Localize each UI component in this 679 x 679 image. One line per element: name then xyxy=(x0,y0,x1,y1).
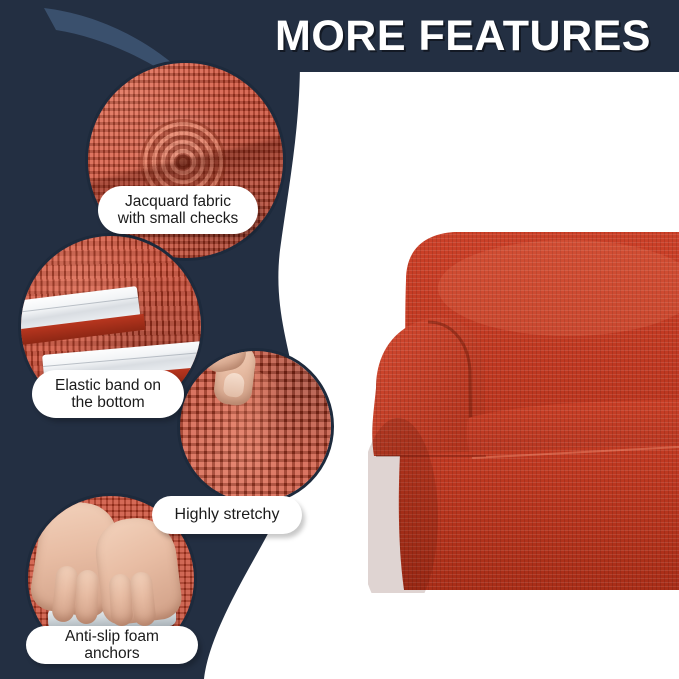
label-line-2: with small checks xyxy=(118,210,239,227)
sofa-skirt-weave xyxy=(399,444,679,590)
page-title: MORE FEATURES xyxy=(275,8,651,64)
left-finger-2 xyxy=(75,570,99,625)
feature-label-jacquard: Jacquard fabric with small checks xyxy=(98,186,258,234)
label-line-1: Jacquard fabric xyxy=(125,193,231,210)
feature-label-anchors-text: Anti-slip foam anchors xyxy=(40,628,184,663)
feature-photo-highly-stretchy xyxy=(177,348,334,505)
feature-label-jacquard-text: Jacquard fabric with small checks xyxy=(118,193,239,228)
feature-label-stretchy-text: Highly stretchy xyxy=(175,506,280,524)
label-line-2: the bottom xyxy=(71,394,144,411)
sofa-illustration xyxy=(368,218,679,593)
infographic-root: MORE FEATURES Jacquard fabric with small… xyxy=(0,0,679,679)
feature-label-elastic-band: Elastic band on the bottom xyxy=(32,370,184,418)
product-sofa xyxy=(368,218,679,593)
feature-label-elastic-text: Elastic band on the bottom xyxy=(55,377,161,412)
label-line-1: Elastic band on xyxy=(55,377,161,394)
feature-label-foam-anchors: Anti-slip foam anchors xyxy=(26,626,198,664)
feature-label-highly-stretchy: Highly stretchy xyxy=(152,496,302,534)
